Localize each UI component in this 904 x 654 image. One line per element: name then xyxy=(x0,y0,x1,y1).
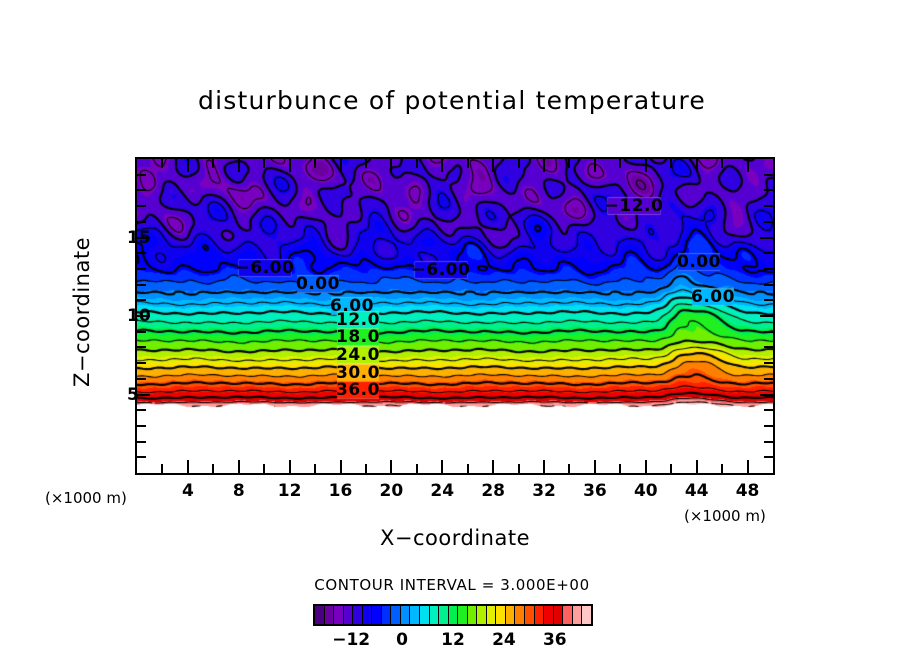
x-tick xyxy=(187,159,189,172)
colorbar-cell xyxy=(506,606,516,624)
colorbar-cell xyxy=(410,606,420,624)
colorbar-cell xyxy=(439,606,449,624)
x-tick xyxy=(543,159,545,172)
colorbar-tick-label: 12 xyxy=(441,630,465,650)
z-tick xyxy=(137,284,146,286)
x-tick xyxy=(670,464,672,473)
x-tick xyxy=(594,159,596,172)
z-tick xyxy=(764,252,773,254)
z-tick xyxy=(764,362,773,364)
z-tick xyxy=(137,378,146,380)
x-tick xyxy=(161,159,163,168)
z-tick xyxy=(137,346,146,348)
colorbar-cell xyxy=(315,606,325,624)
z-tick xyxy=(137,299,146,301)
x-tick xyxy=(340,460,342,473)
x-tick-label: 12 xyxy=(278,481,302,501)
x-tick xyxy=(492,460,494,473)
colorbar-cell xyxy=(334,606,344,624)
colorbar-cell xyxy=(449,606,459,624)
x-tick xyxy=(721,464,723,473)
y-axis-title: Z−coordinate xyxy=(70,212,94,412)
z-tick xyxy=(137,441,146,443)
z-tick xyxy=(137,425,146,427)
colorbar xyxy=(313,604,593,626)
colorbar-tick-label: −12 xyxy=(332,630,370,650)
x-tick xyxy=(619,464,621,473)
x-tick xyxy=(263,159,265,168)
z-tick xyxy=(760,237,773,239)
x-tick xyxy=(212,464,214,473)
colorbar-cell xyxy=(544,606,554,624)
colorbar-cell xyxy=(391,606,401,624)
colorbar-tick-label: 36 xyxy=(543,630,567,650)
colorbar-cell xyxy=(344,606,354,624)
x-tick xyxy=(747,159,749,172)
page-title: disturbunce of potential temperature xyxy=(0,86,904,115)
colorbar-cell xyxy=(535,606,545,624)
x-tick xyxy=(670,159,672,168)
z-tick xyxy=(764,456,773,458)
x-tick-label: 24 xyxy=(430,481,454,501)
x-tick xyxy=(619,159,621,168)
contour-plot-panel: −12.0−6.00−6.000.000.006.006.0012.018.02… xyxy=(135,157,775,475)
x-tick xyxy=(543,460,545,473)
colorbar-cell xyxy=(554,606,564,624)
z-tick xyxy=(137,174,146,176)
x-tick-label: 8 xyxy=(233,481,245,501)
colorbar-cell xyxy=(582,606,591,624)
x-tick xyxy=(416,464,418,473)
z-tick-label: 10 xyxy=(127,306,151,326)
x-tick xyxy=(568,159,570,168)
x-tick xyxy=(161,464,163,473)
colorbar-cell xyxy=(468,606,478,624)
x-tick xyxy=(441,460,443,473)
x-tick xyxy=(518,464,520,473)
colorbar-cell xyxy=(487,606,497,624)
colorbar-tick-label: 0 xyxy=(396,630,408,650)
x-tick xyxy=(721,159,723,168)
x-tick xyxy=(238,460,240,473)
z-tick xyxy=(137,362,146,364)
x-tick-label: 4 xyxy=(182,481,194,501)
x-tick-label: 48 xyxy=(736,481,760,501)
colorbar-cell xyxy=(372,606,382,624)
z-tick xyxy=(764,205,773,207)
z-tick xyxy=(764,346,773,348)
x-tick xyxy=(492,159,494,172)
z-tick xyxy=(764,331,773,333)
z-tick xyxy=(764,409,773,411)
z-tick xyxy=(137,221,146,223)
x-tick-label: 16 xyxy=(329,481,353,501)
z-tick xyxy=(760,315,773,317)
colorbar-cell xyxy=(496,606,506,624)
x-tick xyxy=(340,159,342,172)
x-tick xyxy=(441,159,443,172)
contour-interval-caption: CONTOUR INTERVAL = 3.000E+00 xyxy=(0,576,904,594)
z-tick-label: 15 xyxy=(127,228,151,248)
z-tick xyxy=(137,409,146,411)
x-tick xyxy=(289,460,291,473)
colorbar-cell xyxy=(573,606,583,624)
x-unit-note: (×1000 m) xyxy=(684,507,766,525)
colorbar-cell xyxy=(363,606,373,624)
z-tick xyxy=(137,205,146,207)
x-tick xyxy=(314,464,316,473)
x-tick xyxy=(390,460,392,473)
x-tick xyxy=(238,159,240,172)
colorbar-cell xyxy=(477,606,487,624)
colorbar-cell xyxy=(458,606,468,624)
z-tick xyxy=(764,378,773,380)
z-tick xyxy=(137,394,150,396)
z-tick xyxy=(137,456,146,458)
z-tick xyxy=(764,189,773,191)
x-tick xyxy=(747,460,749,473)
x-tick-label: 40 xyxy=(634,481,658,501)
z-tick xyxy=(764,284,773,286)
z-tick-label: 5 xyxy=(127,385,139,405)
x-tick xyxy=(696,460,698,473)
z-tick xyxy=(137,268,146,270)
x-tick-label: 28 xyxy=(481,481,505,501)
z-tick xyxy=(764,174,773,176)
x-tick xyxy=(568,464,570,473)
z-tick xyxy=(764,299,773,301)
x-tick-label: 32 xyxy=(532,481,556,501)
colorbar-cell xyxy=(401,606,411,624)
colorbar-cell xyxy=(353,606,363,624)
x-tick xyxy=(365,464,367,473)
z-tick xyxy=(764,441,773,443)
x-tick xyxy=(365,159,367,168)
x-tick xyxy=(416,159,418,168)
x-tick xyxy=(518,159,520,168)
z-tick xyxy=(764,221,773,223)
colorbar-cell xyxy=(382,606,392,624)
x-tick xyxy=(187,460,189,473)
x-tick xyxy=(467,159,469,168)
x-tick xyxy=(645,460,647,473)
colorbar-cell xyxy=(430,606,440,624)
contour-field-canvas xyxy=(137,159,773,473)
x-tick xyxy=(212,159,214,168)
x-tick-label: 36 xyxy=(583,481,607,501)
figure-root: disturbunce of potential temperature −12… xyxy=(0,0,904,654)
z-tick xyxy=(760,394,773,396)
z-tick xyxy=(764,268,773,270)
colorbar-cell xyxy=(525,606,535,624)
colorbar-tick-label: 24 xyxy=(492,630,516,650)
z-tick xyxy=(137,331,146,333)
x-tick xyxy=(645,159,647,172)
x-axis-title: X−coordinate xyxy=(135,526,775,550)
x-tick xyxy=(696,159,698,172)
x-tick xyxy=(594,460,596,473)
colorbar-cell xyxy=(325,606,335,624)
x-tick xyxy=(467,464,469,473)
colorbar-cell xyxy=(515,606,525,624)
x-tick-label: 44 xyxy=(685,481,709,501)
z-unit-note: (×1000 m) xyxy=(45,489,127,507)
z-tick xyxy=(764,425,773,427)
z-tick xyxy=(137,252,146,254)
x-tick-label: 20 xyxy=(380,481,404,501)
colorbar-cell xyxy=(563,606,573,624)
x-tick xyxy=(314,159,316,168)
x-tick xyxy=(263,464,265,473)
z-tick xyxy=(137,189,146,191)
x-tick xyxy=(390,159,392,172)
x-tick xyxy=(289,159,291,172)
colorbar-cell xyxy=(420,606,430,624)
